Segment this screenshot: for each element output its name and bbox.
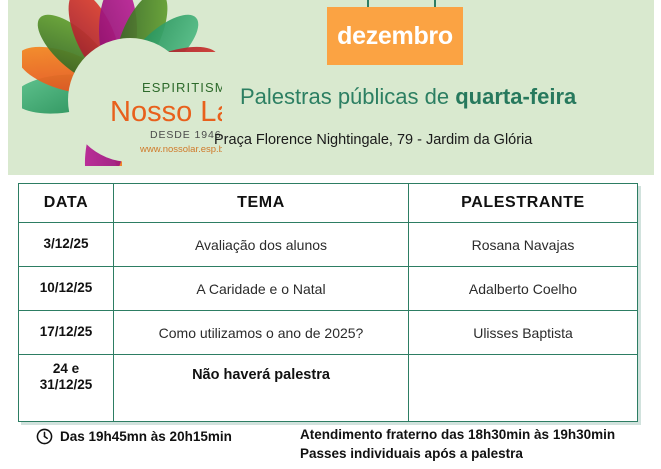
cell-date: 10/12/25 bbox=[19, 267, 114, 311]
headline-prefix: Palestras públicas de bbox=[240, 84, 455, 109]
cell-palestrante: Adalberto Coelho bbox=[409, 267, 638, 311]
column-header-palestrante-label: PALESTRANTE bbox=[409, 194, 637, 212]
column-header-palestrante: PALESTRANTE bbox=[409, 184, 638, 223]
table-row: 10/12/25 A Caridade e o Natal Adalberto … bbox=[19, 267, 638, 311]
footer-time-group: Das 19h45mn às 20h15min bbox=[36, 428, 232, 445]
cell-tema-text: Não haverá palestra bbox=[114, 367, 408, 409]
footer: Das 19h45mn às 20h15min Atendimento frat… bbox=[0, 424, 661, 469]
poster-root: ESPIRITISMO Nosso Lar DESDE 1946 www.nos… bbox=[0, 0, 661, 469]
headline-highlight: quarta-feira bbox=[455, 84, 576, 109]
cell-date-line1: 24 e bbox=[53, 361, 79, 376]
cell-tema: Avaliação dos alunos bbox=[114, 223, 409, 267]
cell-date-line2: 31/12/25 bbox=[40, 377, 93, 392]
table-row: 3/12/25 Avaliação dos alunos Rosana Nava… bbox=[19, 223, 638, 267]
table-row: 17/12/25 Como utilizamos o ano de 2025? … bbox=[19, 311, 638, 355]
cell-palestrante: Rosana Navajas bbox=[409, 223, 638, 267]
column-header-data: DATA bbox=[19, 184, 114, 223]
cell-palestrante bbox=[409, 355, 638, 422]
cell-date: 24 e 31/12/25 bbox=[19, 355, 114, 422]
nosso-lar-logo: ESPIRITISMO Nosso Lar DESDE 1946 www.nos… bbox=[22, 0, 222, 166]
column-header-data-label: DATA bbox=[19, 194, 113, 212]
footer-time-text: Das 19h45mn às 20h15min bbox=[60, 429, 232, 444]
cell-date: 3/12/25 bbox=[19, 223, 114, 267]
venue-address: Praça Florence Nightingale, 79 - Jardim … bbox=[214, 132, 532, 148]
logo-brand-top: ESPIRITISMO bbox=[142, 80, 222, 95]
cell-tema: A Caridade e o Natal bbox=[114, 267, 409, 311]
schedule-table: DATA TEMA PALESTRANTE 3/12/25 Avaliação … bbox=[18, 183, 638, 422]
cell-tema: Como utilizamos o ano de 2025? bbox=[114, 311, 409, 355]
cell-date: 17/12/25 bbox=[19, 311, 114, 355]
month-banner: dezembro bbox=[327, 7, 463, 65]
column-header-tema: TEMA bbox=[114, 184, 409, 223]
footer-notice-line1: Atendimento fraterno das 18h30min às 19h… bbox=[300, 426, 615, 445]
cell-palestrante: Ulisses Baptista bbox=[409, 311, 638, 355]
logo-since: DESDE 1946 bbox=[150, 129, 221, 141]
month-banner-group: dezembro bbox=[327, 0, 463, 70]
logo-website: www.nossolar.esp.br bbox=[139, 144, 222, 155]
page-title: Palestras públicas de quarta-feira bbox=[240, 84, 576, 110]
cell-tema: Não haverá palestra bbox=[114, 355, 409, 422]
logo-brand-main: Nosso Lar bbox=[110, 96, 222, 128]
month-label: dezembro bbox=[337, 22, 453, 51]
clock-icon bbox=[36, 428, 53, 445]
table-row-no-lecture: 24 e 31/12/25 Não haverá palestra bbox=[19, 355, 638, 422]
column-header-tema-label: TEMA bbox=[114, 194, 408, 212]
cell-date-lines: 24 e 31/12/25 bbox=[19, 361, 113, 416]
footer-notice-line2: Passes individuais após a palestra bbox=[300, 445, 615, 464]
footer-notice: Atendimento fraterno das 18h30min às 19h… bbox=[300, 426, 615, 463]
table-header-row: DATA TEMA PALESTRANTE bbox=[19, 184, 638, 223]
